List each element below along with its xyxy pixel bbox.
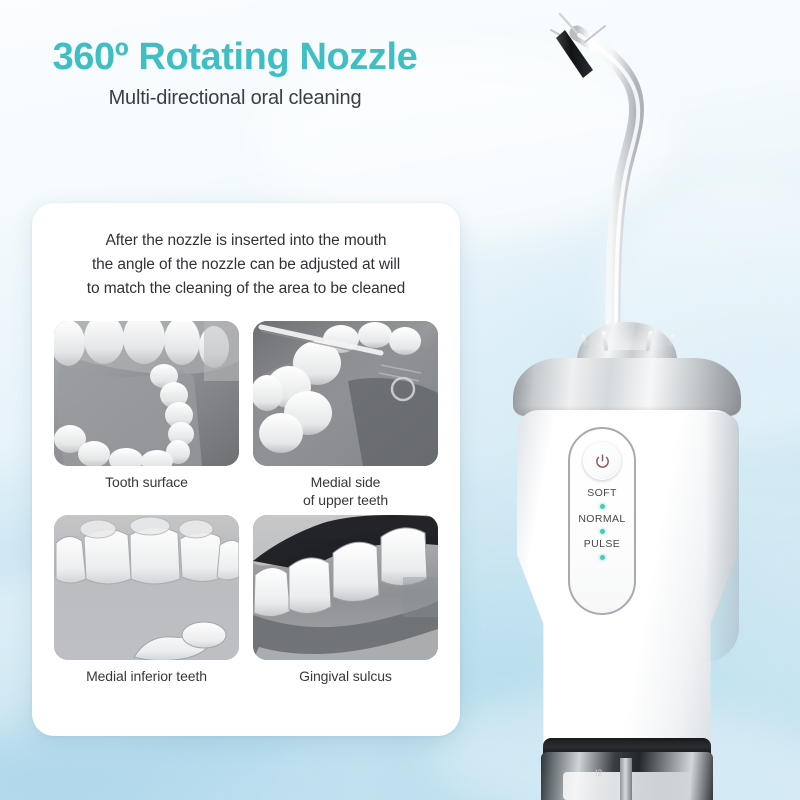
photo-caption-line-1: Medial side	[303, 473, 388, 491]
photo-cell: Medial inferior teeth	[54, 515, 239, 685]
control-panel: SOFT NORMAL PULSE	[568, 427, 636, 615]
led-indicator-normal	[600, 529, 605, 534]
description-line-1: After the nozzle is inserted into the mo…	[52, 229, 440, 253]
rotating-nozzle-icon	[455, 0, 800, 360]
tank-capacity-mark: l2	[595, 768, 602, 778]
photo-cell: Tooth surface	[54, 321, 239, 509]
photo-caption: Medial inferior teeth	[86, 667, 207, 685]
photo-grid: Tooth surface	[54, 321, 438, 686]
dental-photo-inferior-teeth-icon	[54, 515, 239, 660]
mode-label-normal: NORMAL	[578, 514, 625, 526]
photo-caption: Tooth surface	[105, 473, 188, 491]
info-card: After the nozzle is inserted into the mo…	[32, 203, 460, 736]
led-indicator-soft	[600, 504, 605, 509]
page-subtitle: Multi-directional oral cleaning	[0, 87, 470, 110]
tank-stem	[620, 758, 632, 800]
mode-list: SOFT NORMAL PULSE	[570, 488, 634, 565]
card-description: After the nozzle is inserted into the mo…	[32, 203, 460, 301]
photo-caption-line-2: of upper teeth	[303, 491, 388, 509]
water-flosser-device: 360º SOFT NORMAL PULSE l2	[455, 0, 800, 800]
photo-caption: Gingival sulcus	[299, 667, 392, 685]
power-icon	[594, 453, 611, 470]
heading-block: 360º Rotating Nozzle Multi-directional o…	[0, 38, 470, 110]
power-button[interactable]	[583, 442, 621, 480]
dental-photo-tooth-surface-icon	[54, 321, 239, 466]
mode-label-soft: SOFT	[587, 488, 617, 500]
photo-cell: Gingival sulcus	[253, 515, 438, 685]
description-line-3: to match the cleaning of the area to be …	[52, 277, 440, 301]
photo-caption: Medial side of upper teeth	[303, 473, 388, 509]
photo-cell: Medial side of upper teeth	[253, 321, 438, 509]
description-line-2: the angle of the nozzle can be adjusted …	[52, 253, 440, 277]
mode-label-pulse: PULSE	[584, 539, 620, 551]
page-title: 360º Rotating Nozzle	[0, 38, 470, 78]
chrome-collar	[513, 358, 741, 416]
dental-photo-upper-teeth-icon	[253, 321, 438, 466]
dental-photo-gingival-sulcus-icon	[253, 515, 438, 660]
device-body-shadow	[705, 412, 739, 662]
led-indicator-pulse	[600, 555, 605, 560]
